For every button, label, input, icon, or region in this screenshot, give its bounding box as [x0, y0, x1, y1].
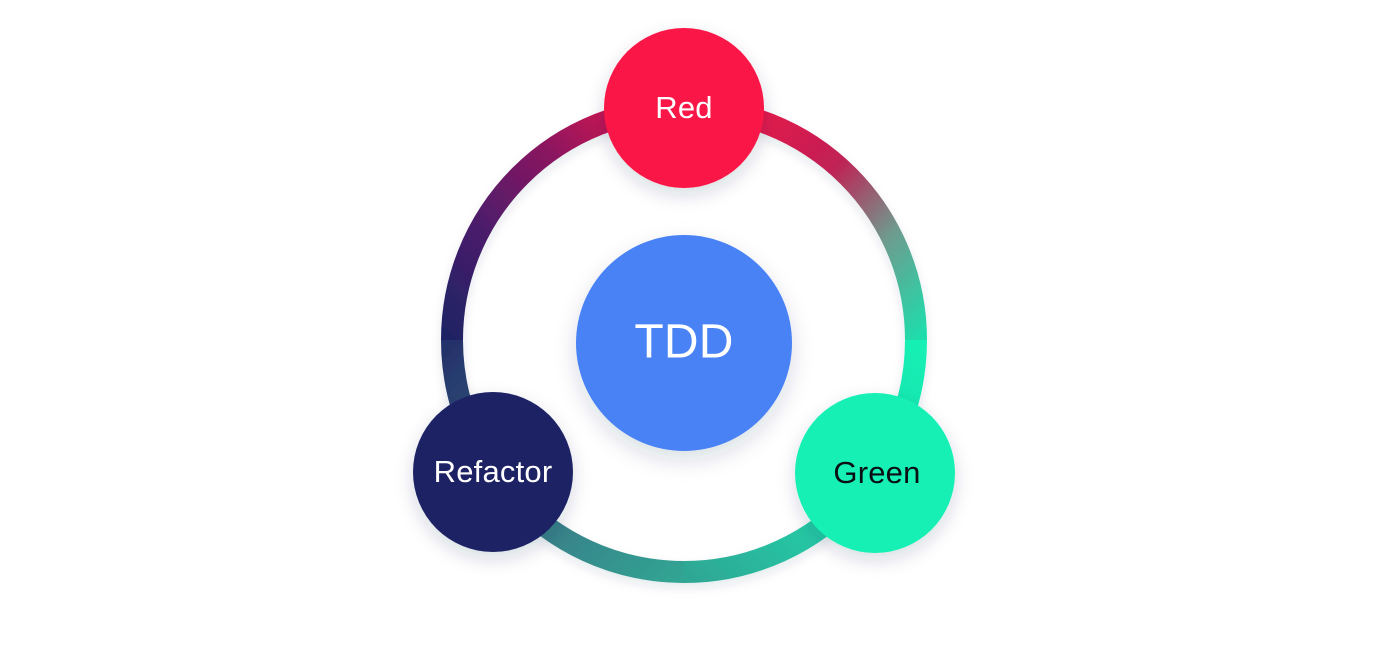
center-node-tdd[interactable]: TDD — [576, 235, 792, 451]
node-green[interactable]: Green — [795, 393, 955, 553]
node-refactor[interactable]: Refactor — [413, 392, 573, 552]
node-red-label: Red — [655, 90, 712, 125]
node-refactor-label: Refactor — [434, 454, 553, 489]
center-node-label: TDD — [634, 316, 733, 369]
node-red[interactable]: Red — [604, 28, 764, 188]
tdd-cycle-diagram: TDD Red Green Refactor — [0, 0, 1381, 659]
diagram-canvas: TDD Red Green Refactor — [0, 0, 1381, 659]
node-green-label: Green — [833, 455, 920, 490]
